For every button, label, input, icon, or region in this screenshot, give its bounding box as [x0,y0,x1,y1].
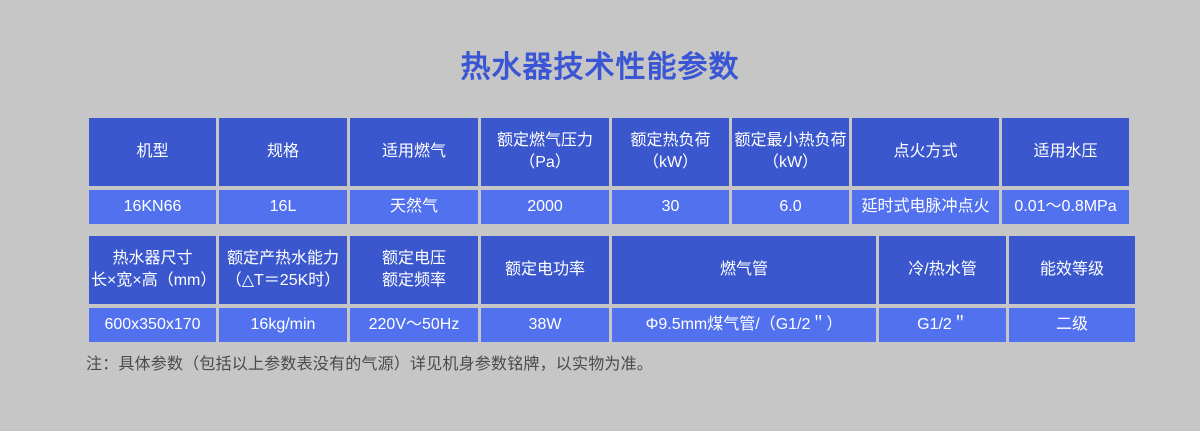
header-cell-gas-pipe: 燃气管 [612,236,876,304]
header-line-1: 额定电压 [352,248,476,270]
table-row: 16KN66 16L 天然气 2000 30 6.0 延时式电脉冲点火 0.01… [89,190,1129,224]
header-line-2: 额定频率 [352,270,476,292]
header-line-1: 冷/热水管 [881,259,1004,281]
value-cell-water-pipe: G1/2＂ [879,308,1006,342]
value-cell-gas-pipe: Φ9.5mm煤气管/（G1/2＂） [612,308,876,342]
header-line-2: 长×宽×高（mm） [91,270,214,292]
table-one-header-row: 机型 规格 适用燃气 额定燃气压力 （Pa） 额定热负荷 （kW） [89,118,1129,186]
header-line-2: （kW） [734,152,847,174]
header-cell-gas-type: 适用燃气 [350,118,478,186]
value-cell-gas-type: 天然气 [350,190,478,224]
header-cell-hot-water-capacity: 额定产热水能力 （△T＝25K时） [219,236,347,304]
header-line-1: 额定电功率 [483,259,607,281]
header-cell-rated-heat-load: 额定热负荷 （kW） [612,118,729,186]
value-cell-min-heat-load: 6.0 [732,190,849,224]
spec-table-one: 机型 规格 适用燃气 额定燃气压力 （Pa） 额定热负荷 （kW） [86,118,1132,224]
header-cell-ignition-method: 点火方式 [852,118,999,186]
table-two-header-row: 热水器尺寸 长×宽×高（mm） 额定产热水能力 （△T＝25K时） 额定电压 额… [89,236,1135,304]
value-cell-ignition-method: 延时式电脉冲点火 [852,190,999,224]
header-line-2: （kW） [614,152,727,174]
header-line-1: 额定最小热负荷 [734,130,847,152]
header-line-1: 额定产热水能力 [221,248,345,270]
footnote: 注：具体参数（包括以上参数表没有的气源）详见机身参数铭牌，以实物为准。 [86,353,653,377]
header-line-1: 热水器尺寸 [91,248,214,270]
value-cell-dimensions: 600x350x170 [89,308,216,342]
header-line-2: （Pa） [483,152,607,174]
header-cell-spec: 规格 [219,118,347,186]
page-title: 热水器技术性能参数 [0,48,1200,88]
header-line-1: 点火方式 [854,141,997,163]
header-cell-water-pressure: 适用水压 [1002,118,1129,186]
value-cell-spec: 16L [219,190,347,224]
value-cell-rated-power: 38W [481,308,609,342]
header-cell-min-heat-load: 额定最小热负荷 （kW） [732,118,849,186]
value-cell-voltage-frequency: 220V～50Hz [350,308,478,342]
value-cell-rated-gas-pressure: 2000 [481,190,609,224]
header-cell-voltage-frequency: 额定电压 额定频率 [350,236,478,304]
header-cell-water-pipe: 冷/热水管 [879,236,1006,304]
spec-table-two: 热水器尺寸 长×宽×高（mm） 额定产热水能力 （△T＝25K时） 额定电压 额… [86,236,1138,342]
spec-sheet-page: 热水器技术性能参数 机型 规格 [0,0,1200,431]
header-line-1: 额定热负荷 [614,130,727,152]
value-cell-energy-rating: 二级 [1009,308,1135,342]
header-cell-dimensions: 热水器尺寸 长×宽×高（mm） [89,236,216,304]
header-line-1: 机型 [91,141,214,163]
table-separator [86,224,1114,236]
header-line-1: 能效等级 [1011,259,1133,281]
header-cell-model: 机型 [89,118,216,186]
spec-tables-container: 机型 规格 适用燃气 额定燃气压力 （Pa） 额定热负荷 （kW） [86,118,1114,342]
header-cell-rated-gas-pressure: 额定燃气压力 （Pa） [481,118,609,186]
value-cell-water-pressure: 0.01～0.8MPa [1002,190,1129,224]
header-line-1: 燃气管 [614,259,874,281]
header-line-1: 适用水压 [1004,141,1127,163]
value-cell-hot-water-capacity: 16kg/min [219,308,347,342]
header-line-1: 额定燃气压力 [483,130,607,152]
value-cell-rated-heat-load: 30 [612,190,729,224]
header-cell-energy-rating: 能效等级 [1009,236,1135,304]
header-cell-rated-power: 额定电功率 [481,236,609,304]
table-row: 600x350x170 16kg/min 220V～50Hz 38W Φ9.5m… [89,308,1135,342]
value-cell-model: 16KN66 [89,190,216,224]
header-line-2: （△T＝25K时） [221,270,345,292]
header-line-1: 适用燃气 [352,141,476,163]
header-line-1: 规格 [221,141,345,163]
